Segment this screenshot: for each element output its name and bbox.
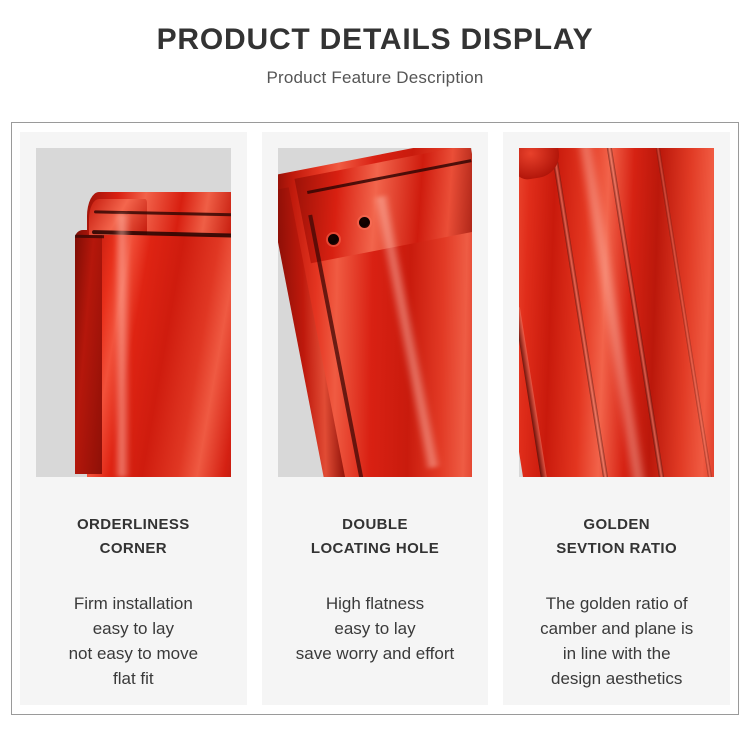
tile-gloss-highlight [114, 214, 132, 477]
feature-desc-line: in line with the [513, 641, 720, 666]
product-photo-orderliness-corner [36, 148, 231, 477]
feature-title-line-2: LOCATING HOLE [272, 537, 479, 561]
feature-desc-line: easy to lay [272, 616, 479, 641]
locating-hole-first [328, 234, 339, 245]
tile-illustration-1 [36, 148, 231, 477]
product-details-page: PRODUCT DETAILS DISPLAY Product Feature … [0, 0, 750, 733]
feature-title-1: ORDERLINESS CORNER [30, 513, 237, 561]
product-photo-golden-section-ratio [519, 148, 714, 477]
feature-card-double-locating-hole: DOUBLE LOCATING HOLE High flatness easy … [262, 132, 489, 705]
feature-text-block-2: DOUBLE LOCATING HOLE High flatness easy … [262, 477, 489, 666]
tile-illustration-2 [278, 148, 473, 477]
page-title: PRODUCT DETAILS DISPLAY [0, 22, 750, 57]
feature-text-block-3: GOLDEN SEVTION RATIO The golden ratio of… [503, 477, 730, 691]
tile-step-notch [75, 230, 102, 473]
feature-card-golden-section-ratio: GOLDEN SEVTION RATIO The golden ratio of… [503, 132, 730, 705]
feature-title-line-1: ORDERLINESS [30, 513, 237, 537]
feature-title-line-2: SEVTION RATIO [513, 537, 720, 561]
feature-desc-line: save worry and effort [272, 641, 479, 666]
tile-body-shape [87, 201, 231, 477]
feature-panel: ORDERLINESS CORNER Firm installation eas… [11, 122, 739, 715]
page-subtitle: Product Feature Description [0, 68, 750, 88]
tile-illustration-3 [519, 148, 714, 477]
feature-desc-line: camber and plane is [513, 616, 720, 641]
tile-body-group [278, 148, 473, 477]
feature-desc-line: The golden ratio of [513, 591, 720, 616]
feature-title-line-2: CORNER [30, 537, 237, 561]
feature-desc-line: flat fit [30, 666, 237, 691]
feature-desc-line: High flatness [272, 591, 479, 616]
feature-desc-line: not easy to move [30, 641, 237, 666]
feature-description-2: High flatness easy to lay save worry and… [272, 591, 479, 666]
page-header: PRODUCT DETAILS DISPLAY Product Feature … [0, 0, 750, 88]
feature-desc-line: Firm installation [30, 591, 237, 616]
feature-desc-line: design aesthetics [513, 666, 720, 691]
feature-title-2: DOUBLE LOCATING HOLE [272, 513, 479, 561]
feature-desc-line: easy to lay [30, 616, 237, 641]
feature-text-block-1: ORDERLINESS CORNER Firm installation eas… [20, 477, 247, 691]
feature-card-orderliness-corner: ORDERLINESS CORNER Firm installation eas… [20, 132, 247, 705]
feature-description-3: The golden ratio of camber and plane is … [513, 591, 720, 691]
feature-title-3: GOLDEN SEVTION RATIO [513, 513, 720, 561]
feature-title-line-1: DOUBLE [272, 513, 479, 537]
feature-description-1: Firm installation easy to lay not easy t… [30, 591, 237, 691]
product-photo-double-locating-hole [278, 148, 473, 477]
feature-title-line-1: GOLDEN [513, 513, 720, 537]
